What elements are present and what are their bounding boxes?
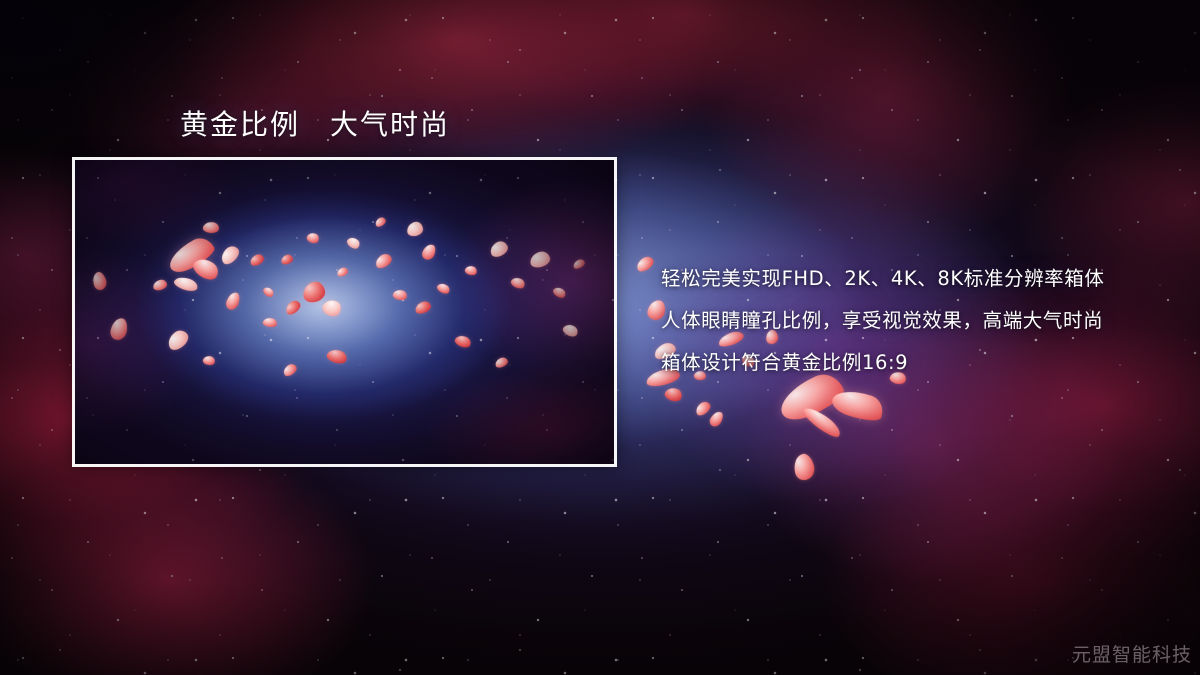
- panel-image: [75, 160, 614, 464]
- watermark-text: 元盟智能科技: [1072, 640, 1192, 667]
- panel-vignette: [75, 160, 614, 464]
- slide-canvas: 黄金比例 大气时尚 轻松完美实现FHD、2K、4K、8K标准分辨率箱体 人体眼睛…: [0, 0, 1200, 675]
- image-frame-panel[interactable]: [72, 157, 617, 467]
- body-line: 人体眼睛瞳孔比例，享受视觉效果，高端大气时尚: [661, 300, 1181, 342]
- body-copy-block: 轻松完美实现FHD、2K、4K、8K标准分辨率箱体 人体眼睛瞳孔比例，享受视觉效…: [661, 258, 1181, 384]
- body-line: 箱体设计符合黄金比例16:9: [661, 342, 1181, 384]
- slide-title: 黄金比例 大气时尚: [180, 103, 450, 143]
- body-line: 轻松完美实现FHD、2K、4K、8K标准分辨率箱体: [661, 258, 1181, 300]
